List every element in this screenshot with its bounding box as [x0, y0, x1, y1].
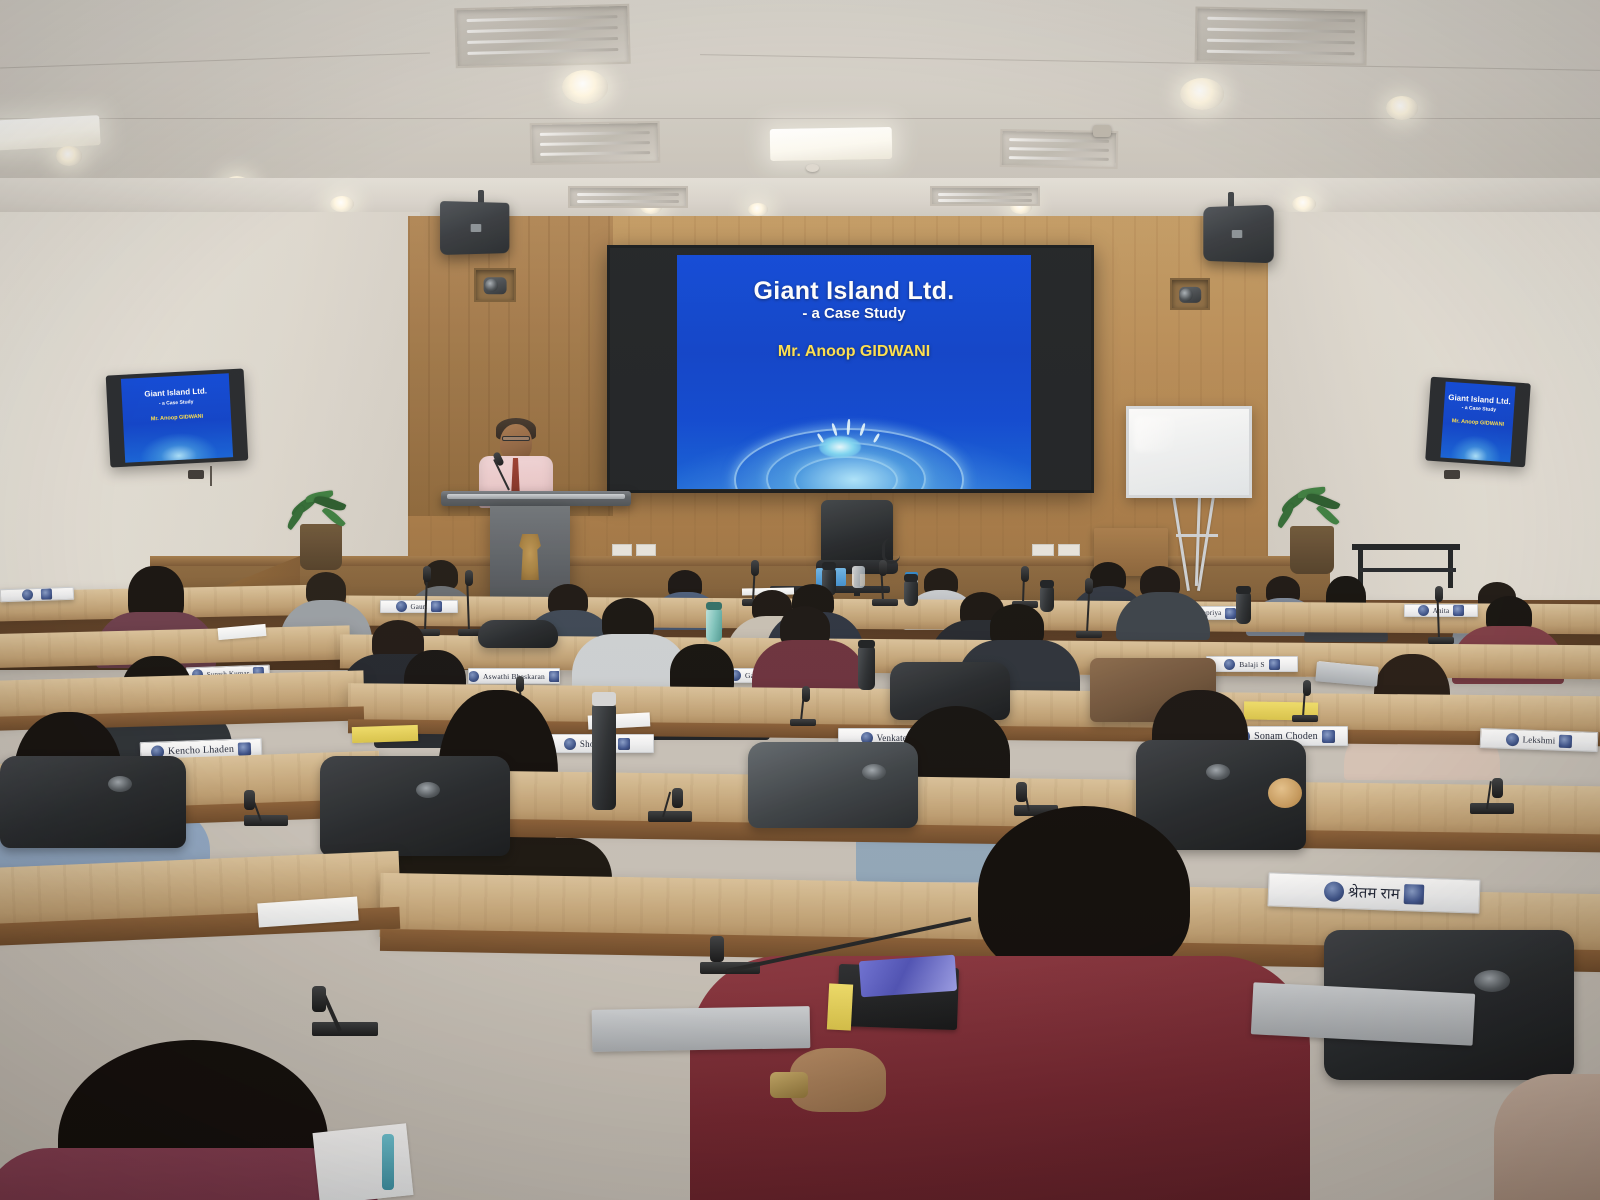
desk-microphone[interactable] — [1428, 586, 1454, 644]
right-wall-monitor: Giant Island Ltd. - a Case Study Mr. Ano… — [1425, 377, 1531, 468]
nameplate-emblem — [549, 671, 560, 682]
table-shelf — [1360, 568, 1456, 572]
desk-microphone[interactable] — [244, 790, 284, 826]
podium — [490, 506, 570, 598]
pen — [382, 1134, 394, 1190]
podium-light-strip — [447, 494, 625, 499]
led-panel-light — [770, 127, 893, 161]
desk-microphone[interactable] — [700, 940, 756, 974]
presentation-slide: Giant Island Ltd. - a Case Study Mr. Ano… — [677, 255, 1031, 489]
recessed-downlight — [1292, 196, 1316, 212]
laptop[interactable] — [592, 1006, 811, 1052]
paper-sheet — [312, 1123, 413, 1200]
nameplate-emblem — [1559, 734, 1572, 747]
monitor-bracket — [188, 470, 204, 479]
desk-microphone[interactable] — [872, 560, 898, 606]
right-monitor-slide: Giant Island Ltd. - a Case Study Mr. Ano… — [1440, 382, 1515, 463]
nameplate-text: Lekshmi — [1522, 734, 1555, 745]
slide-title: Giant Island Ltd. — [677, 277, 1031, 306]
backpack-logo — [108, 776, 132, 792]
water-bottle — [1040, 586, 1054, 612]
desk-microphone[interactable] — [648, 788, 688, 822]
water-bottle — [706, 608, 722, 642]
side-table-right — [1352, 544, 1460, 550]
hvac-vent — [1195, 7, 1368, 66]
wall-switch-plate[interactable] — [612, 544, 632, 556]
left-camera-niche — [474, 268, 516, 302]
left-monitor-slide: Giant Island Ltd. - a Case Study Mr. Ano… — [121, 373, 233, 463]
nameplate-emblem — [1225, 608, 1236, 619]
nameplate-emblem — [1453, 605, 1464, 616]
led-panel-light — [0, 115, 101, 151]
backpack-logo — [416, 782, 440, 798]
desk-microphone[interactable] — [1470, 778, 1510, 814]
desk-microphone[interactable] — [1292, 680, 1320, 722]
hvac-vent — [454, 4, 631, 69]
water-glass — [852, 566, 865, 588]
nameplate-emblem — [1404, 884, 1425, 905]
water-bottle — [592, 702, 616, 810]
nameplate-emblem — [564, 738, 576, 750]
nameplate-emblem — [1224, 659, 1235, 670]
yellow-folder — [352, 725, 419, 743]
water-bottle — [858, 646, 875, 690]
monitor-slide-subtitle: - a Case Study — [122, 398, 230, 410]
speaker-logo — [471, 224, 482, 232]
backpack — [320, 756, 510, 856]
teddy-bear-keychain — [1268, 778, 1302, 808]
left-loudspeaker — [440, 201, 509, 255]
national-emblem — [517, 534, 543, 580]
desk-microphone[interactable] — [312, 988, 368, 1036]
laptop-bag — [748, 742, 918, 828]
wall-switch-plate[interactable] — [636, 544, 656, 556]
nameplate-text: Kencho Lhaden — [168, 743, 235, 756]
nameplate-emblem — [1505, 732, 1518, 745]
recessed-downlight — [1386, 96, 1418, 120]
planter-right — [1290, 526, 1334, 574]
nameplate-emblem — [1324, 881, 1345, 902]
notebook — [1315, 661, 1379, 686]
nameplate-emblem — [238, 742, 251, 755]
laptop-bag — [478, 620, 558, 648]
nameplate-lekshmi: Lekshmi — [1480, 728, 1599, 752]
whiteboard-glare — [1134, 416, 1175, 452]
easel-crossbar — [1176, 534, 1218, 537]
bag-logo — [862, 764, 886, 780]
water-bottle — [1236, 592, 1251, 624]
lanyard — [859, 955, 957, 998]
desk-microphone[interactable] — [790, 686, 818, 726]
nameplate-emblem — [396, 601, 407, 612]
backpack — [0, 756, 186, 848]
nameplate: Balaji S — [1206, 656, 1298, 672]
presenter-glasses — [502, 436, 530, 441]
sprinkler-head — [1093, 125, 1111, 137]
left-wall-monitor: Giant Island Ltd. - a Case Study Mr. Ano… — [106, 368, 249, 467]
smoke-detector — [806, 164, 819, 172]
yellow-card — [827, 983, 853, 1030]
slide-author: Mr. Anoop GIDWANI — [677, 343, 1031, 361]
recessed-downlight — [56, 146, 82, 166]
right-camera-niche — [1170, 278, 1210, 310]
whiteboard — [1126, 406, 1252, 498]
desk-microphone[interactable] — [1012, 566, 1038, 608]
lecture-hall-scene: Giant Island Ltd. - a Case Study Mr. Ano… — [0, 0, 1600, 1200]
ptz-camera — [484, 277, 507, 294]
wristwatch — [770, 1072, 808, 1098]
desk-microphone[interactable] — [1076, 578, 1102, 638]
recessed-downlight — [1180, 78, 1224, 110]
hvac-vent — [930, 186, 1040, 206]
speaker-logo — [1232, 230, 1242, 238]
ceiling-seam — [0, 118, 1600, 119]
nameplate — [0, 587, 74, 603]
right-loudspeaker — [1203, 205, 1274, 264]
monitor-cable — [210, 466, 212, 486]
planter-left — [300, 524, 342, 570]
bag-logo — [1474, 970, 1510, 992]
slide-subtitle: - a Case Study — [677, 305, 1031, 322]
nameplate-emblem — [22, 589, 33, 600]
nameplate-emblem — [468, 671, 479, 682]
projection-screen: Giant Island Ltd. - a Case Study Mr. Ano… — [607, 245, 1094, 493]
wall-switch-plate[interactable] — [1058, 544, 1080, 556]
hvac-vent — [568, 186, 688, 208]
monitor-slide-author: Mr. Anoop GIDWANI — [123, 413, 231, 425]
recessed-downlight — [562, 70, 608, 104]
water-splash — [819, 436, 861, 458]
recessed-downlight — [748, 203, 768, 216]
nameplate-emblem — [1269, 659, 1280, 670]
camera-lens — [485, 279, 498, 292]
monitor-bracket — [1444, 470, 1460, 479]
hvac-vent — [530, 121, 661, 165]
recessed-downlight — [330, 196, 354, 212]
wall-switch-plate[interactable] — [1032, 544, 1054, 556]
desk-microphone[interactable] — [414, 566, 440, 636]
nameplate-text: श्रेतम राम — [1348, 882, 1401, 904]
nameplate-emblem — [41, 588, 52, 599]
backpack-logo — [1206, 764, 1230, 780]
ptz-camera — [1179, 286, 1201, 302]
monitor-slide-author: Mr. Anoop GIDWANI — [1443, 417, 1513, 428]
nameplate-emblem — [1322, 730, 1335, 743]
camera-lens — [1180, 288, 1193, 301]
water-bottle — [904, 580, 918, 606]
nameplate-emblem — [618, 738, 630, 750]
nameplate-text: Balaji S — [1239, 660, 1265, 669]
